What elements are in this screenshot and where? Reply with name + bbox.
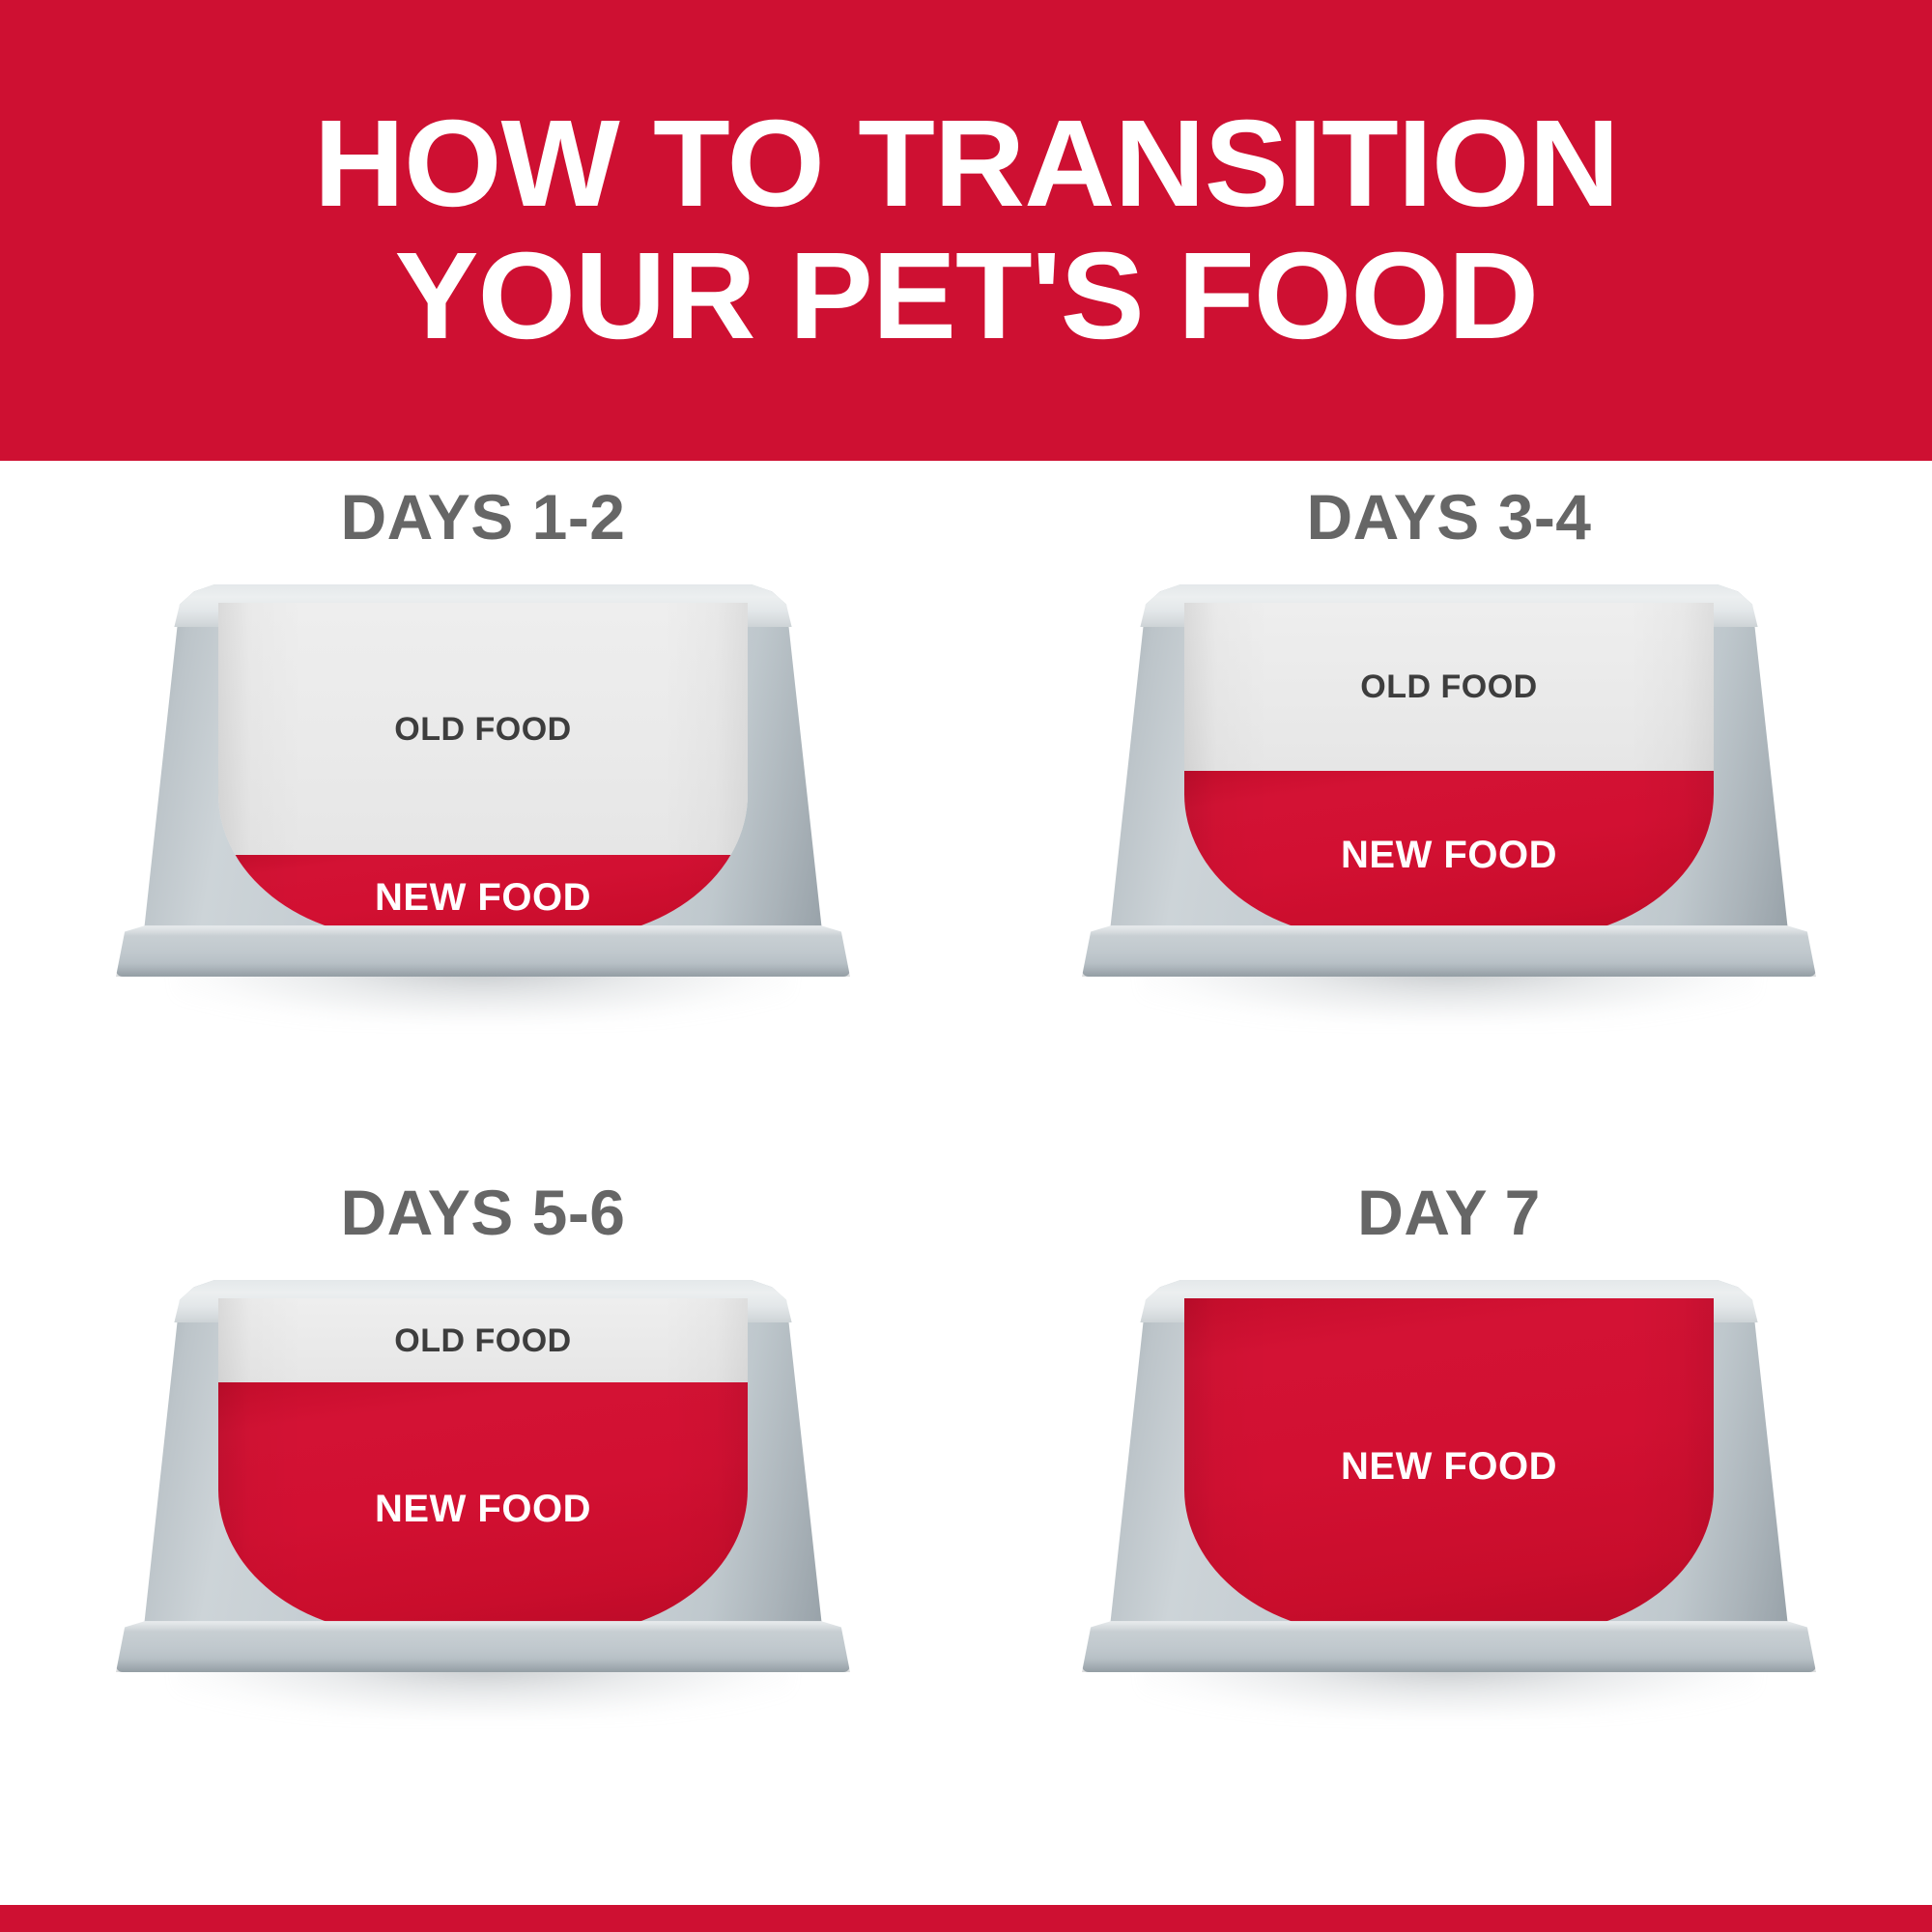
old-food-label: OLD FOOD [394,713,571,746]
stage-title-day-7: DAY 7 [966,1176,1932,1249]
new-food-portion: NEW FOOD [1184,1298,1714,1634]
stage-title-days-3-4: DAYS 3-4 [966,480,1932,554]
old-food-label: OLD FOOD [1360,670,1537,703]
old-food-portion: OLD FOOD [1184,603,1714,771]
new-food-label: NEW FOOD [375,1490,591,1528]
food-bowl-days-5-6: OLD FOOD NEW FOOD [116,1280,850,1686]
page-title: HOW TO TRANSITION YOUR PET'S FOOD [254,99,1677,363]
stage-title-days-1-2: DAYS 1-2 [0,480,966,554]
stage-days-5-6: DAYS 5-6 OLD FOOD NEW FOOD [0,1176,966,1895]
transition-stages-grid: DAYS 1-2 OLD FOOD NEW FOOD DAYS 3-4 [0,461,1932,1905]
old-food-portion: OLD FOOD [218,1298,748,1382]
bowl-contents: OLD FOOD NEW FOOD [1184,603,1714,939]
bowl-contents: OLD FOOD NEW FOOD [218,1298,748,1634]
bowl-base [1082,924,1816,977]
new-food-label: NEW FOOD [1341,836,1557,874]
stage-title-days-5-6: DAYS 5-6 [0,1176,966,1249]
new-food-portion: NEW FOOD [1184,771,1714,939]
bowl-base [116,1620,850,1672]
new-food-label: NEW FOOD [1341,1447,1557,1486]
new-food-portion: NEW FOOD [218,1382,748,1634]
food-bowl-days-3-4: OLD FOOD NEW FOOD [1082,584,1816,990]
bowl-contents: OLD FOOD NEW FOOD [218,603,748,939]
stage-days-3-4: DAYS 3-4 OLD FOOD NEW FOOD [966,480,1932,1200]
stage-day-7: DAY 7 NEW FOOD [966,1176,1932,1895]
bowl-base [1082,1620,1816,1672]
food-bowl-days-1-2: OLD FOOD NEW FOOD [116,584,850,990]
new-food-label: NEW FOOD [375,878,591,917]
bowl-base [116,924,850,977]
food-bowl-day-7: NEW FOOD [1082,1280,1816,1686]
stage-days-1-2: DAYS 1-2 OLD FOOD NEW FOOD [0,480,966,1200]
bowl-contents: NEW FOOD [1184,1298,1714,1634]
footer-accent-bar [0,1905,1932,1932]
old-food-portion: OLD FOOD [218,603,748,855]
header-banner: HOW TO TRANSITION YOUR PET'S FOOD [0,0,1932,461]
old-food-label: OLD FOOD [394,1324,571,1357]
